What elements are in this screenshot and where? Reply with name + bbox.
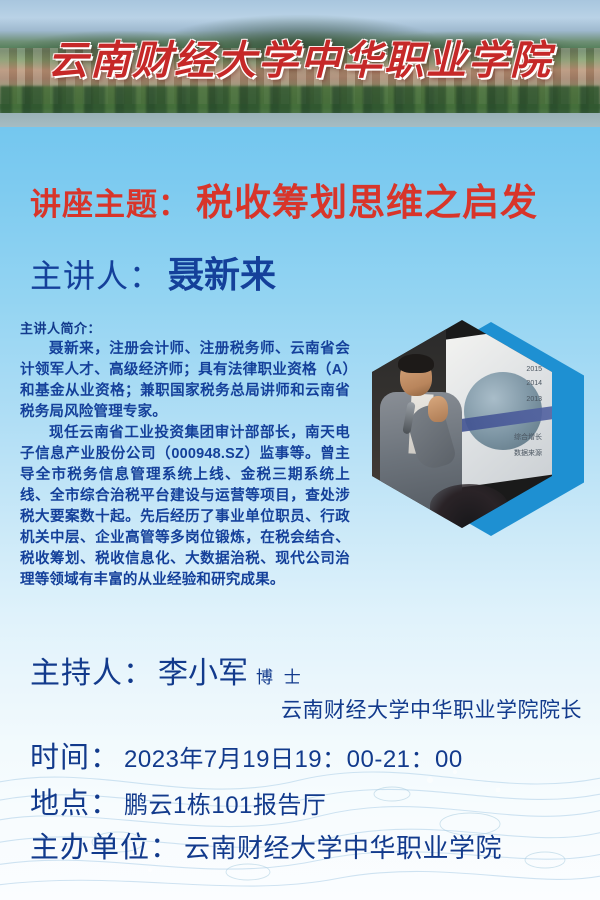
host-name: 李小军: [158, 657, 248, 690]
speaker-line: 主讲人：聂新来: [30, 246, 276, 298]
host-line: 主持人：李小军博 士: [30, 648, 304, 692]
slide-text-3: 2013: [526, 396, 542, 403]
lecture-poster: 云南财经大学中华职业学院: [0, 0, 600, 900]
biography-paragraph-1: 聂新来，注册会计师、注册税务师、云南省会计领军人才、高级经济师；具有法律职业资格…: [20, 339, 350, 423]
place-label: 地点：: [30, 788, 120, 820]
host-title: 云南财经大学中华职业学院院长: [281, 694, 582, 724]
header-banner: 云南财经大学中华职业学院: [0, 0, 600, 127]
slide-text-2: 2014: [526, 380, 542, 387]
speaker-label: 主讲人：: [30, 258, 162, 294]
organizer-line: 主办单位：云南财经大学中华职业学院: [30, 824, 502, 866]
place-line: 地点：鹏云1栋101报告厅: [30, 780, 326, 822]
host-degree: 博 士: [256, 668, 304, 687]
time-line: 时间：2023年7月19日19：00-21：00: [30, 734, 463, 776]
time-value: 2023年7月19日19：00-21：00: [124, 746, 463, 773]
speaker-hair: [398, 354, 434, 373]
organizer-value: 云南财经大学中华职业学院: [184, 833, 502, 863]
topic-label: 讲座主题：: [30, 187, 190, 222]
speaker-name: 聂新来: [168, 255, 276, 295]
campus-water-strip: [0, 113, 600, 127]
organizer-label: 主办单位：: [30, 832, 180, 864]
institution-title: 云南财经大学中华职业学院: [0, 28, 600, 86]
lecture-topic-line: 讲座主题：税收筹划思维之启发: [30, 172, 538, 226]
host-label: 主持人：: [30, 657, 154, 690]
slide-text-5: 数据来源: [514, 448, 542, 458]
campus-trees-decor: [0, 86, 600, 116]
speaker-biography: 主讲人简介： 聂新来，注册会计师、注册税务师、云南省会计领军人才、高级经济师；具…: [20, 318, 350, 591]
slide-text-1: 2015: [526, 366, 542, 373]
time-label: 时间：: [30, 742, 120, 774]
slide-text-4: 综合增长: [514, 432, 542, 442]
speaker-hand: [428, 396, 448, 422]
biography-heading: 主讲人简介：: [20, 318, 350, 337]
biography-paragraph-2: 现任云南省工业投资集团审计部部长，南天电子信息产业股份公司（000948.SZ）…: [20, 423, 350, 591]
place-value: 鹏云1栋101报告厅: [124, 792, 326, 819]
topic-value: 税收筹划思维之启发: [196, 183, 538, 224]
